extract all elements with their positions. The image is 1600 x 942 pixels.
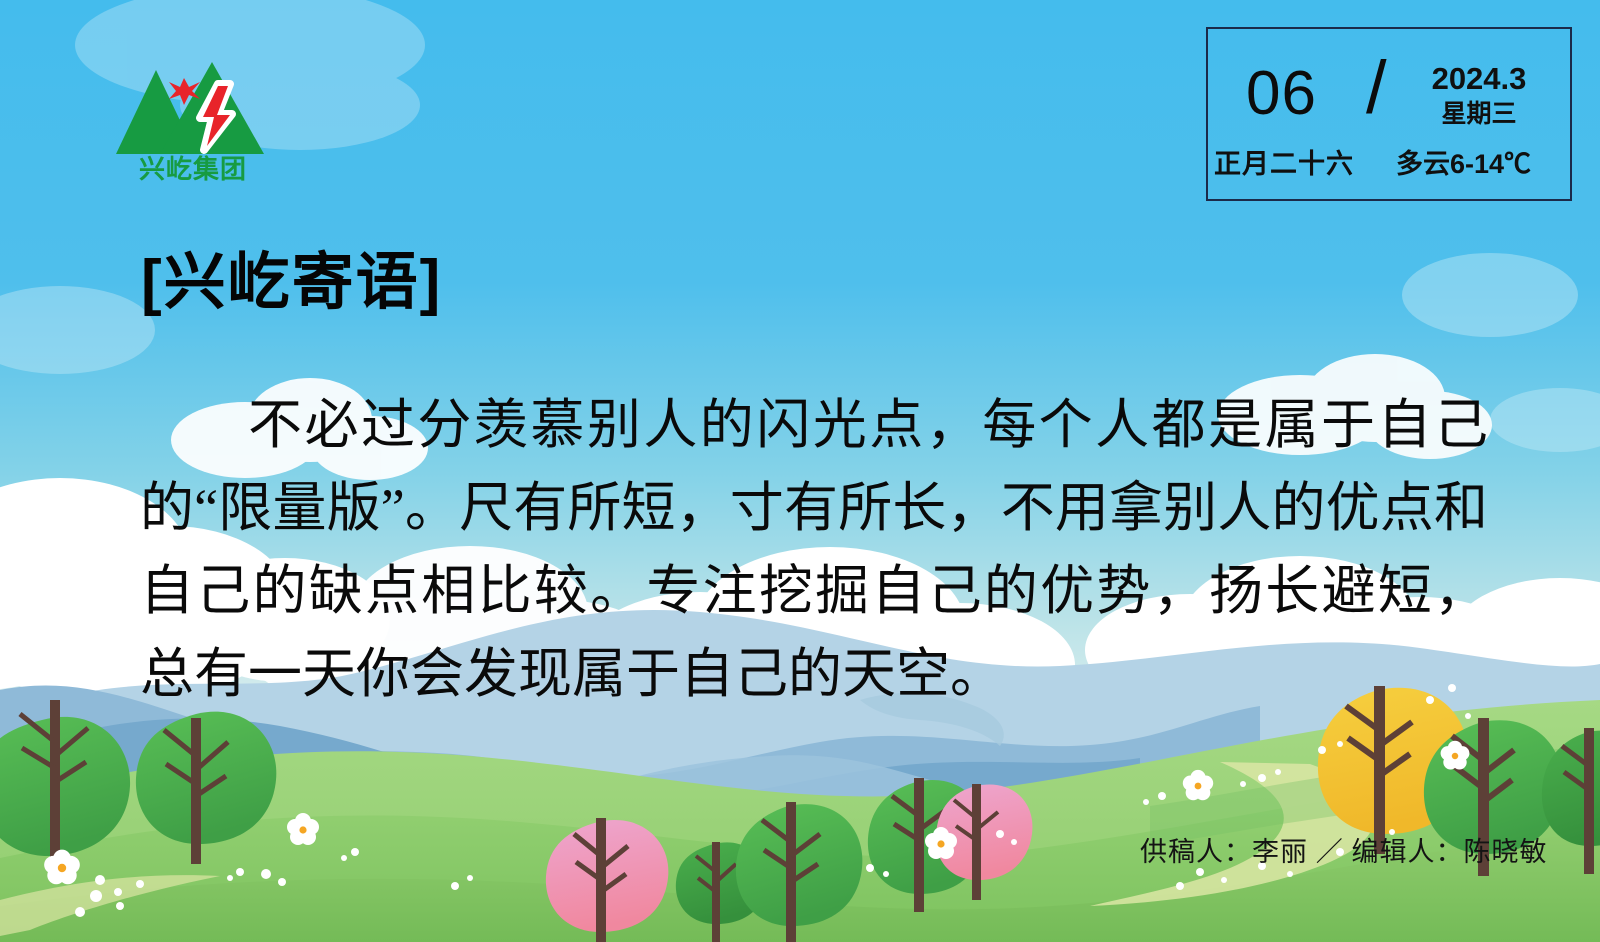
date-slash: / bbox=[1366, 51, 1387, 125]
body-paragraph: 不必过分羡慕别人的闪光点，每个人都是属于自己的“限量版”。尺有所短，寸有所长，不… bbox=[140, 384, 1488, 716]
date-weekday: 星期三 bbox=[1414, 99, 1544, 129]
logo-wordmark: 兴屹集团 bbox=[139, 154, 247, 184]
page-title: [兴屹寄语] bbox=[141, 246, 442, 320]
date-card: 06 / 2024.3 星期三 正月二十六 多云6-14℃ bbox=[1206, 27, 1572, 201]
mountain-lightning-logo: 兴屹集团 bbox=[108, 44, 278, 184]
body-text: 不必过分羡慕别人的闪光点，每个人都是属于自己的“限量版”。尺有所短，寸有所长，不… bbox=[140, 384, 1488, 716]
company-logo: 兴屹集团 bbox=[108, 44, 278, 184]
credits-line: 供稿人：李丽 ／ 编辑人：陈晓敏 bbox=[1140, 835, 1548, 869]
date-weather: 多云6-14℃ bbox=[1396, 147, 1531, 181]
date-year-month: 2024.3 bbox=[1414, 61, 1544, 97]
poster-canvas: 兴屹集团 06 / 2024.3 星期三 正月二十六 多云6-14℃ [兴屹寄语… bbox=[0, 0, 1600, 942]
date-lunar: 正月二十六 bbox=[1214, 147, 1354, 181]
date-day: 06 bbox=[1246, 63, 1317, 125]
